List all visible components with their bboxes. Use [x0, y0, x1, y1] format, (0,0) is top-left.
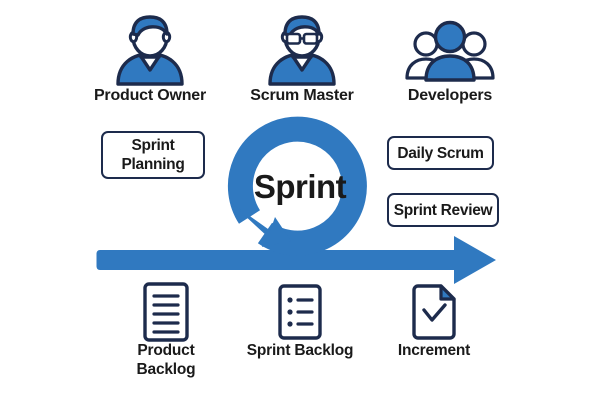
product-owner-icon-wrap — [110, 14, 190, 86]
role-label-developers: Developers — [380, 87, 520, 105]
document-bullet-list-icon — [274, 283, 326, 341]
product-backlog-line-1: Product — [96, 341, 236, 360]
role-label-product-owner: Product Owner — [65, 87, 235, 105]
artifact-label-sprint-backlog: Sprint Backlog — [230, 341, 370, 360]
people-group-icon — [404, 18, 496, 84]
scrum-framework-diagram: Product Owner Scrum Master — [0, 0, 600, 400]
artifact-label-increment: Increment — [364, 341, 504, 360]
person-icon — [110, 14, 190, 86]
scrum-master-icon-wrap — [262, 14, 342, 86]
sprint-backlog-icon-wrap — [274, 283, 326, 341]
product-backlog-icon-wrap — [139, 281, 193, 343]
product-backlog-line-2: Backlog — [96, 360, 236, 379]
document-check-icon — [408, 283, 460, 341]
role-label-scrum-master: Scrum Master — [222, 87, 382, 105]
person-with-glasses-icon — [262, 14, 342, 86]
artifact-label-product-backlog: Product Backlog — [96, 341, 236, 379]
sprint-cycle-label: Sprint — [0, 168, 600, 206]
event-box-daily-scrum[interactable]: Daily Scrum — [387, 136, 494, 170]
increment-icon-wrap — [408, 283, 460, 341]
sprint-planning-line-1: Sprint — [121, 136, 184, 155]
document-lines-icon — [139, 281, 193, 343]
developers-icon-wrap — [404, 18, 496, 84]
